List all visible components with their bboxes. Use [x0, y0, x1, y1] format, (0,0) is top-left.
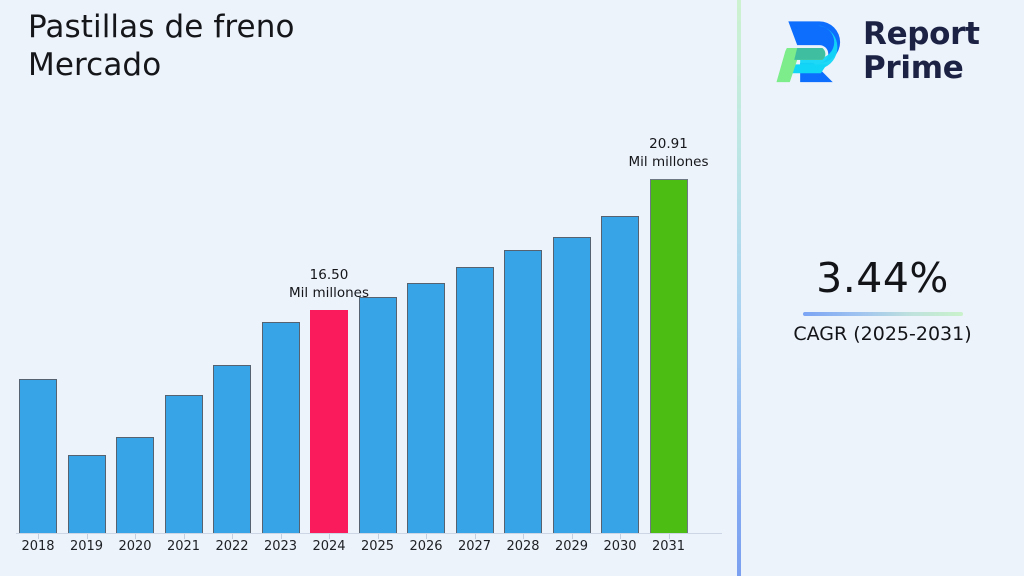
x-axis-label-2024: 2024 — [302, 539, 356, 554]
bar-2030 — [601, 216, 639, 533]
bar-2024 — [310, 310, 348, 533]
brand-name-line-1: Report — [863, 17, 980, 51]
x-axis-label-2028: 2028 — [496, 539, 550, 554]
x-axis-label-2025: 2025 — [351, 539, 405, 554]
cagr-block: 3.44% CAGR (2025-2031) — [741, 252, 1024, 346]
x-axis-label-2019: 2019 — [60, 539, 114, 554]
report-prime-r-logo-icon — [775, 14, 849, 88]
chart-panel: Pastillas de freno Mercado 2018201920202… — [0, 0, 738, 576]
bar-annotation-2031: 20.91Mil millones — [609, 135, 729, 171]
x-axis-label-2022: 2022 — [205, 539, 259, 554]
cagr-value: 3.44% — [741, 252, 1024, 304]
x-axis-label-2026: 2026 — [399, 539, 453, 554]
bar-2018 — [19, 379, 57, 533]
x-axis-label-2020: 2020 — [108, 539, 162, 554]
cagr-divider-rule — [803, 312, 963, 316]
bar-2026 — [407, 283, 445, 533]
bar-annotation-unit-2031: Mil millones — [609, 153, 729, 171]
bar-chart-plot: 2018201920202021202220232024202520262027… — [0, 0, 738, 576]
bar-2021 — [165, 395, 203, 533]
x-axis-label-2023: 2023 — [254, 539, 308, 554]
bar-annotation-value-2024: 16.50 — [269, 266, 389, 284]
bar-annotation-unit-2024: Mil millones — [269, 284, 389, 302]
brand-panel: Report Prime 3.44% CAGR (2025-2031) — [741, 0, 1024, 576]
x-axis-label-2021: 2021 — [157, 539, 211, 554]
x-axis-label-2018: 2018 — [11, 539, 65, 554]
cagr-caption: CAGR (2025-2031) — [741, 322, 1024, 346]
x-axis-label-2027: 2027 — [448, 539, 502, 554]
bar-2027 — [456, 267, 494, 533]
x-axis-line — [16, 533, 722, 534]
x-axis-label-2030: 2030 — [593, 539, 647, 554]
x-axis-label-2029: 2029 — [545, 539, 599, 554]
bar-2023 — [262, 322, 300, 533]
bar-annotation-2024: 16.50Mil millones — [269, 266, 389, 302]
bar-2022 — [213, 365, 251, 533]
bar-2019 — [68, 455, 106, 533]
brand-name-line-2: Prime — [863, 51, 980, 85]
bar-2020 — [116, 437, 154, 533]
bar-2025 — [359, 297, 397, 533]
brand-logo: Report Prime — [775, 14, 980, 88]
x-axis-label-2031: 2031 — [642, 539, 696, 554]
bar-annotation-value-2031: 20.91 — [609, 135, 729, 153]
bar-2029 — [553, 237, 591, 533]
brand-name: Report Prime — [863, 17, 980, 85]
slide-root: Pastillas de freno Mercado 2018201920202… — [0, 0, 1024, 576]
bar-2031 — [650, 179, 688, 533]
bar-2028 — [504, 250, 542, 533]
